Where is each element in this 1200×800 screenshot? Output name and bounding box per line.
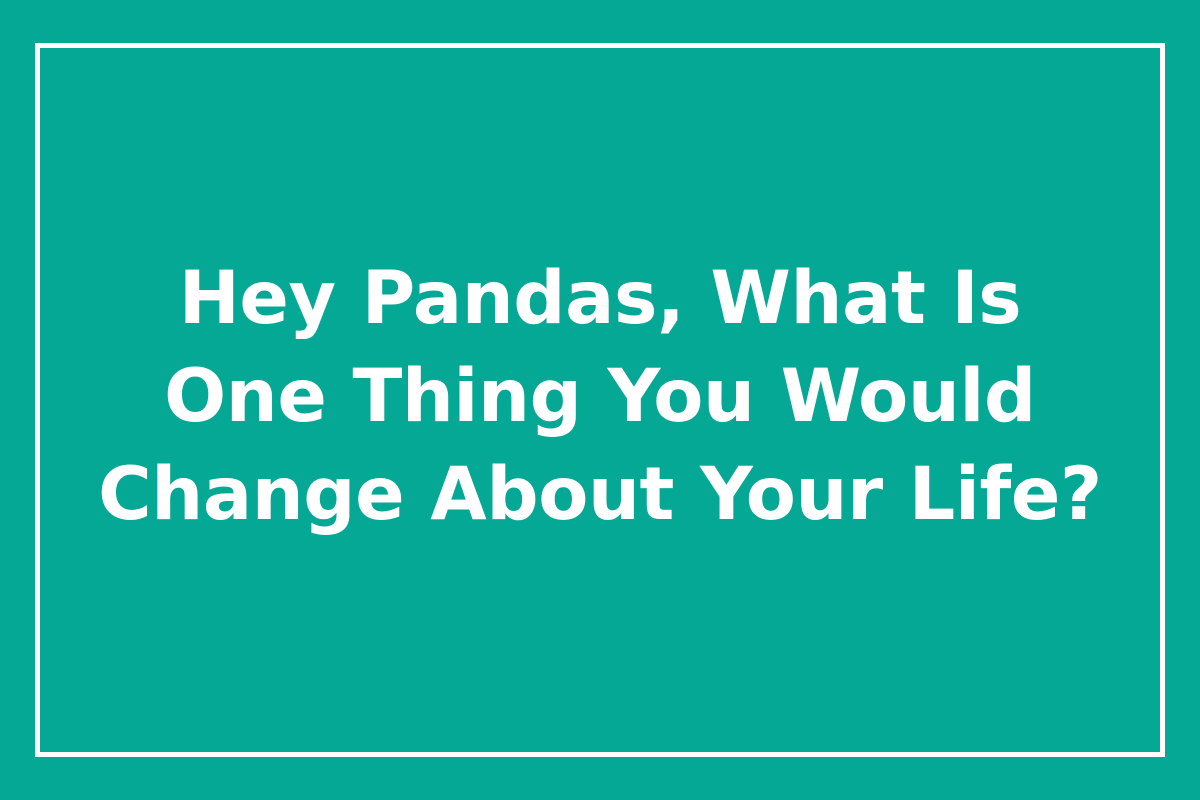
poster-canvas: Hey Pandas, What Is One Thing You Would …	[0, 0, 1200, 800]
decorative-border-frame	[35, 43, 1165, 757]
